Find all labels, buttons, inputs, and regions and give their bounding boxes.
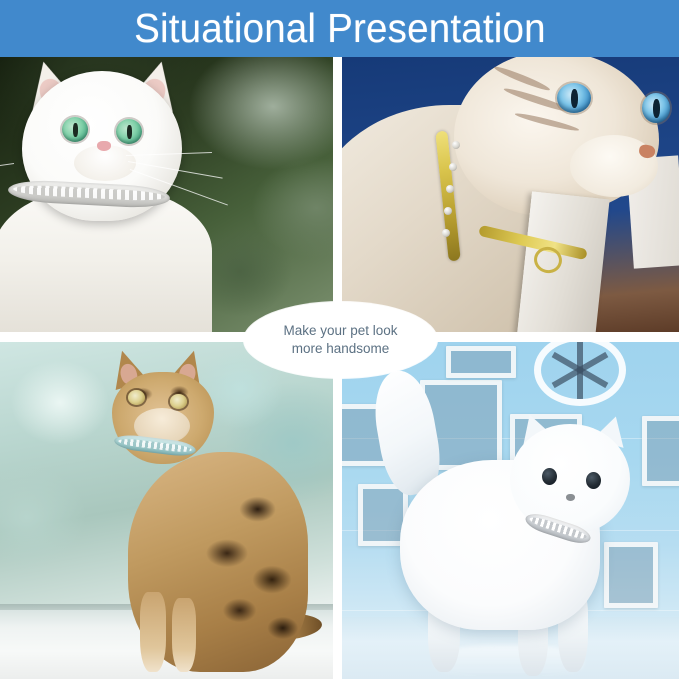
photo-tr-cat-eye-left <box>557 83 591 113</box>
photo-bl-cat-foreleg-right <box>172 598 196 672</box>
photo-tl-cat-nose <box>97 141 111 151</box>
photo-tr-pupil-left <box>571 89 578 108</box>
photo-tl-cat-eye-left <box>62 117 88 142</box>
photo-bl-cat-eye-left <box>128 390 145 405</box>
photo-br-picture-frame-7 <box>604 542 658 608</box>
photo-br-kitten-eye-right <box>586 472 601 489</box>
photo-tr-collar-stud-3 <box>446 185 454 193</box>
header-banner: Situational Presentation <box>0 0 679 57</box>
photo-bottom-right-content <box>342 342 679 679</box>
photo-tr-white-object-1 <box>516 191 609 332</box>
photo-top-left-content <box>0 57 333 332</box>
photo-tr-collar-stud-4 <box>444 207 452 215</box>
photo-tl-pupil-left <box>73 123 78 137</box>
photo-br-kitten-eye-left <box>542 468 557 485</box>
photo-tr-collar-stud-1 <box>452 141 460 149</box>
photo-bottom-right <box>342 342 679 679</box>
page-title: Situational Presentation <box>134 8 546 49</box>
photo-br-picture-frame-3 <box>446 346 516 378</box>
photo-br-picture-frame-5 <box>642 416 679 486</box>
product-image-canvas: Situational Presentation <box>0 0 679 679</box>
photo-top-right <box>342 57 679 332</box>
photo-top-left <box>0 57 333 332</box>
photo-bottom-left-content <box>0 342 333 679</box>
photo-tr-pupil-right <box>653 99 660 118</box>
photo-tl-cat-eye-right <box>116 119 142 144</box>
photo-tl-pupil-right <box>127 125 132 139</box>
photo-tr-collar-stud-5 <box>442 229 450 237</box>
photo-bl-cat-eye-right <box>170 394 187 409</box>
photo-bottom-left <box>0 342 333 679</box>
photo-top-right-content <box>342 57 679 332</box>
photo-tr-collar-stud-2 <box>449 163 457 171</box>
photo-tr-cat-eye-right <box>642 93 670 123</box>
photo-br-kitten-nose <box>566 494 575 501</box>
photo-bl-cat-foreleg-left <box>140 592 166 672</box>
callout-text: Make your pet look more handsome <box>269 322 411 358</box>
callout-bubble: Make your pet look more handsome <box>244 302 437 378</box>
